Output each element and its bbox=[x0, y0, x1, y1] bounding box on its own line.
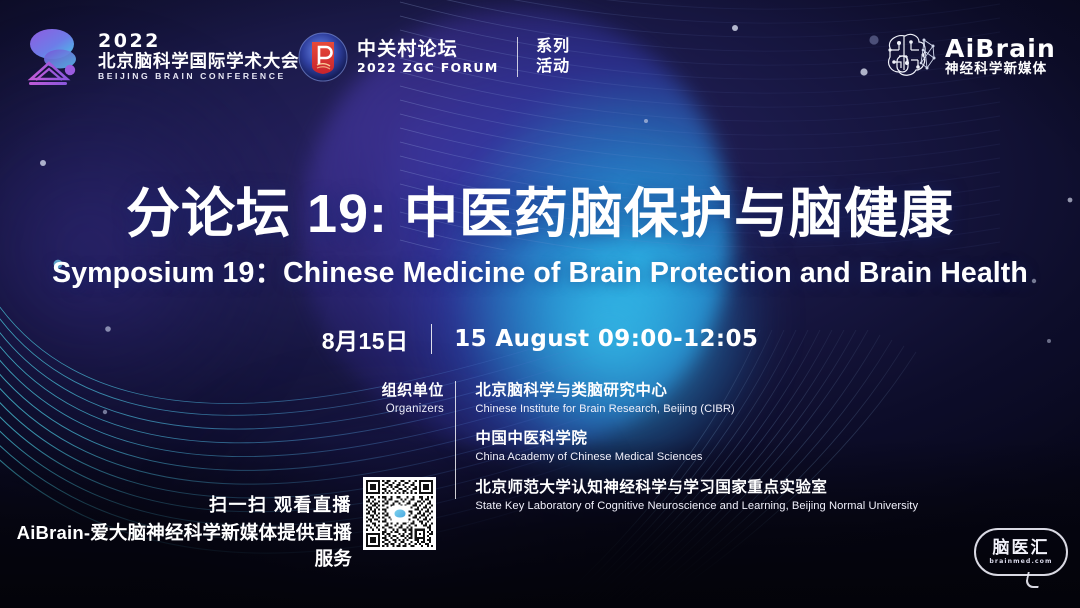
logo-title-en: BEIJING BRAIN CONFERENCE bbox=[98, 72, 299, 81]
page-title-en: Symposium 19：Chinese Medicine of Brain P… bbox=[0, 257, 1080, 290]
logo-year: 2022 bbox=[98, 32, 299, 51]
logo-zgc-forum[interactable]: 中关村论坛 2022 ZGC FORUM 系列 活动 bbox=[298, 32, 570, 82]
organizers-label-cn: 组织单位 bbox=[364, 382, 444, 401]
organizer-item: 北京师范大学认知神经科学与学习国家重点实验室 State Key Laborat… bbox=[475, 478, 918, 514]
organizer-name-en: Chinese Institute for Brain Research, Be… bbox=[475, 402, 918, 417]
organizers-label-en: Organizers bbox=[364, 402, 444, 417]
zgc-title-cn: 中关村论坛 bbox=[357, 39, 499, 60]
organizer-name-cn: 中国中医科学院 bbox=[475, 429, 918, 449]
zgc-title-en: 2022 ZGC FORUM bbox=[357, 61, 499, 75]
event-date-cn: 8月15日 bbox=[322, 322, 409, 356]
organizers-divider bbox=[455, 381, 456, 499]
organizer-item: 中国中医科学院 China Academy of Chinese Medical… bbox=[475, 429, 918, 465]
aibrain-subtitle: 神经科学新媒体 bbox=[945, 61, 1056, 77]
speech-bubble-tail-icon bbox=[1024, 572, 1041, 588]
zgc-badge-line1: 系列 bbox=[536, 38, 570, 57]
logo-title-cn: 北京脑科学国际学术大会 bbox=[98, 52, 299, 71]
logo-beijing-brain-conference[interactable]: 2022 北京脑科学国际学术大会 BEIJING BRAIN CONFERENC… bbox=[26, 27, 299, 87]
page-title-cn: 分论坛 19: 中医药脑保护与脑健康 bbox=[0, 186, 1080, 243]
livestream-qr-code[interactable] bbox=[363, 477, 436, 550]
brainmed-domain: brainmed.com bbox=[989, 559, 1052, 565]
organizer-name-en: State Key Laboratory of Cognitive Neuros… bbox=[475, 499, 918, 514]
zgc-series-badge: 系列 活动 bbox=[536, 38, 570, 76]
conference-poster: 2022 北京脑科学国际学术大会 BEIJING BRAIN CONFERENC… bbox=[0, 0, 1080, 608]
qr-center-logo-icon bbox=[391, 505, 408, 522]
speech-bubble-icon: 脑医汇 brainmed.com bbox=[974, 528, 1068, 576]
livestream-provider-line: AiBrain-爱大脑神经科学新媒体提供直播服务 bbox=[0, 520, 352, 572]
brainmed-name-cn: 脑医汇 bbox=[993, 539, 1050, 556]
aibrain-name: AiBrain bbox=[945, 36, 1056, 61]
logo-aibrain[interactable]: AiBrain 神经科学新媒体 bbox=[881, 30, 1056, 82]
zgc-separator bbox=[517, 37, 519, 77]
livestream-text: 扫一扫 观看直播 AiBrain-爱大脑神经科学新媒体提供直播服务 bbox=[0, 493, 352, 572]
organizers-block: 组织单位 Organizers 北京脑科学与类脑研究中心 Chinese Ins… bbox=[364, 381, 918, 514]
event-date-en: 15 August 09:00-12:05 bbox=[454, 326, 758, 352]
organizers-label: 组织单位 Organizers bbox=[364, 381, 444, 417]
zgc-badge-line2: 活动 bbox=[536, 58, 570, 77]
organizer-name-en: China Academy of Chinese Medical Science… bbox=[475, 450, 918, 465]
logo-brainmed[interactable]: 脑医汇 brainmed.com bbox=[974, 528, 1068, 590]
livestream-scan-line: 扫一扫 观看直播 bbox=[0, 493, 352, 517]
organizer-name-cn: 北京师范大学认知神经科学与学习国家重点实验室 bbox=[475, 478, 918, 498]
brain-logo-icon bbox=[26, 27, 88, 87]
event-date-row: 8月15日 15 August 09:00-12:05 bbox=[0, 322, 1080, 356]
ai-brain-network-icon bbox=[881, 30, 937, 82]
organizers-list: 北京脑科学与类脑研究中心 Chinese Institute for Brain… bbox=[475, 381, 918, 514]
organizer-item: 北京脑科学与类脑研究中心 Chinese Institute for Brain… bbox=[475, 381, 918, 417]
organizer-name-cn: 北京脑科学与类脑研究中心 bbox=[475, 381, 918, 401]
zgc-emblem-icon bbox=[298, 32, 348, 82]
date-divider bbox=[431, 324, 433, 354]
